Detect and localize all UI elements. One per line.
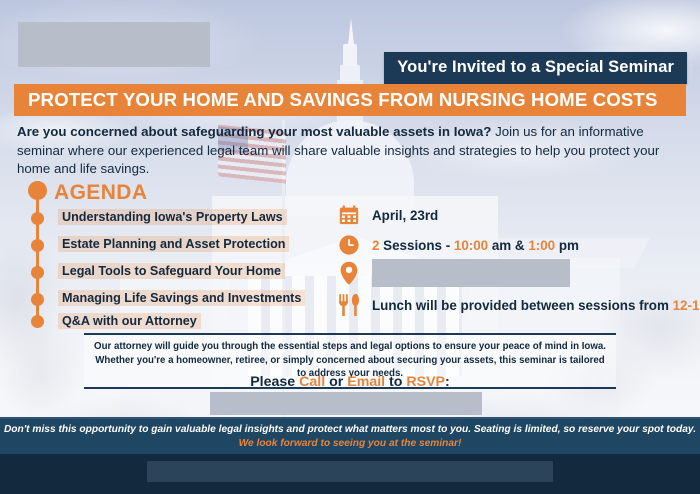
- fork-knife-icon: [337, 293, 361, 317]
- agenda-timeline-dot: [31, 293, 44, 306]
- agenda-timeline-dot: [31, 239, 44, 252]
- footer-placeholder: [147, 461, 553, 482]
- headline-banner: PROTECT YOUR HOME AND SAVINGS FROM NURSI…: [14, 84, 686, 116]
- headline-text: PROTECT YOUR HOME AND SAVINGS FROM NURSI…: [14, 89, 658, 111]
- rsvp-email: Email: [347, 374, 385, 390]
- agenda-item: Managing Life Savings and Investments: [58, 290, 305, 306]
- detail-row-location: [337, 259, 570, 287]
- rsvp-colon: :: [445, 374, 450, 390]
- clock-icon: [337, 233, 361, 257]
- logo-placeholder: [18, 22, 210, 67]
- agenda-timeline-dot: [31, 266, 44, 279]
- detail-row-lunch: Lunch will be provided between sessions …: [337, 293, 700, 317]
- footer-text-primary: Don't miss this opportunity to gain valu…: [4, 423, 696, 437]
- intro-paragraph: Are you concerned about safeguarding you…: [17, 123, 685, 179]
- intro-bold: Are you concerned about safeguarding you…: [17, 124, 491, 139]
- detail-row-date: April, 23rd: [337, 203, 438, 227]
- seminar-flyer: You're Invited to a Special Seminar PROT…: [0, 0, 700, 494]
- rsvp-contact-placeholder: [210, 392, 482, 415]
- rsvp-to: to: [385, 374, 406, 390]
- footer-text-secondary: We look forward to seeing you at the sem…: [239, 437, 462, 451]
- rsvp-line: Please Call or Email to RSVP:: [0, 374, 700, 390]
- agenda-timeline-head-dot: [28, 181, 47, 200]
- agenda-timeline-dot: [31, 315, 44, 328]
- session-time-1-suffix: am &: [488, 238, 528, 253]
- lunch-prefix: Lunch will be provided between sessions …: [372, 298, 673, 313]
- session-time-2: 1:00: [528, 238, 555, 253]
- rsvp-or: or: [325, 374, 347, 390]
- agenda-item: Legal Tools to Safeguard Your Home: [58, 263, 285, 279]
- agenda-item: Estate Planning and Asset Protection: [58, 236, 289, 252]
- location-pin-icon: [337, 261, 361, 285]
- rsvp-word: RSVP: [406, 374, 445, 390]
- agenda-item: Q&A with our Attorney: [58, 313, 201, 329]
- session-time-1: 10:00: [454, 238, 488, 253]
- date-text: April, 23rd: [372, 208, 438, 223]
- footer-band: Don't miss this opportunity to gain valu…: [0, 419, 700, 454]
- rsvp-call: Call: [299, 374, 325, 390]
- sessions-label: Sessions -: [379, 238, 453, 253]
- session-time-2-suffix: pm: [555, 238, 579, 253]
- rsvp-please: Please: [250, 374, 299, 390]
- lunch-time: 12-1: [673, 298, 700, 313]
- calendar-icon: [337, 203, 361, 227]
- invite-badge: You're Invited to a Special Seminar: [384, 52, 687, 84]
- agenda-title: AGENDA: [54, 181, 147, 205]
- agenda-item: Understanding Iowa's Property Laws: [58, 209, 287, 225]
- agenda-timeline-dot: [31, 212, 44, 225]
- detail-row-time: 2 Sessions - 10:00 am & 1:00 pm: [337, 233, 579, 257]
- sessions-text: 2 Sessions - 10:00 am & 1:00 pm: [372, 238, 579, 253]
- location-placeholder: [372, 259, 570, 287]
- lunch-text: Lunch will be provided between sessions …: [372, 298, 700, 313]
